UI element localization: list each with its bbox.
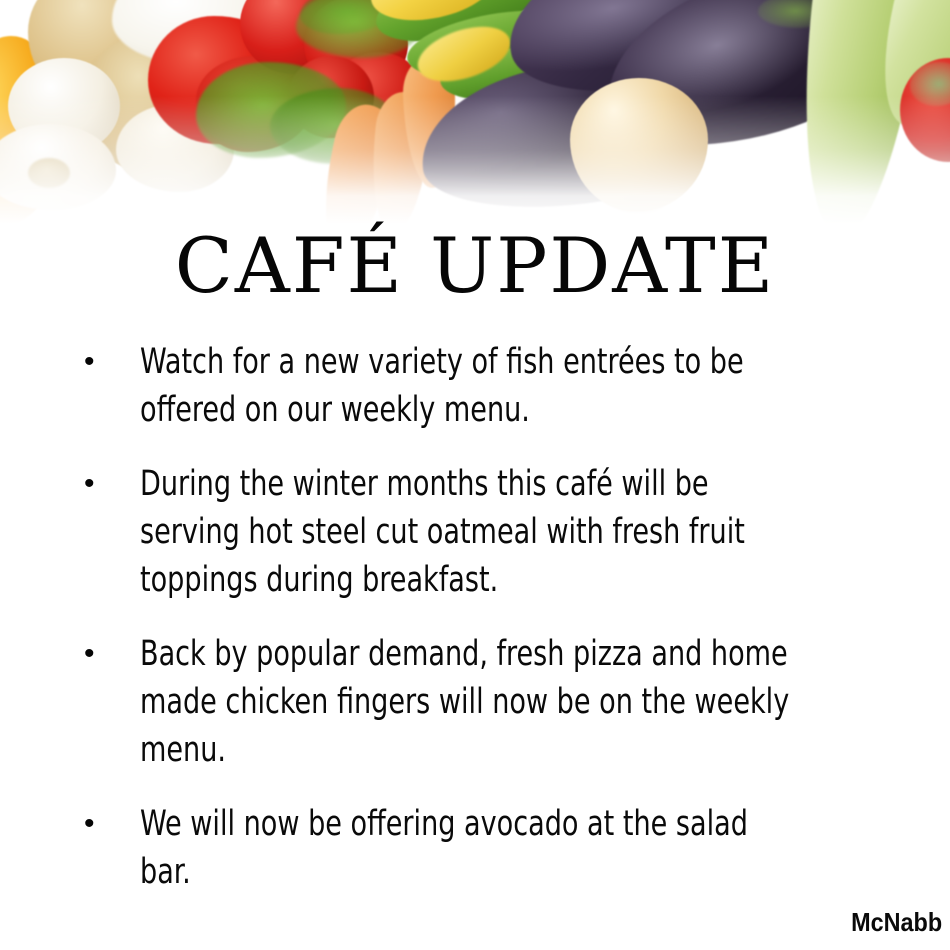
list-item: • Back by popular demand, fresh pizza an… [74, 630, 904, 774]
mushroom-stem-icon [28, 158, 70, 188]
list-item: • We will now be offering avocado at the… [74, 800, 904, 896]
onion-root-icon [614, 196, 664, 214]
bullet-marker-icon: • [74, 800, 140, 848]
list-item: • Watch for a new variety of fish entrée… [74, 338, 904, 434]
bullet-marker-icon: • [74, 460, 140, 508]
list-item-text: Back by popular demand, fresh pizza and … [140, 630, 797, 774]
vegetable-border-image [0, 0, 950, 240]
bullet-marker-icon: • [74, 630, 140, 678]
announcement-bullet-list: • Watch for a new variety of fish entrée… [74, 338, 904, 896]
list-item-text: Watch for a new variety of fish entrées … [140, 338, 797, 434]
footer-attribution: McNabb [851, 907, 942, 938]
list-item-text: We will now be offering avocado at the s… [140, 800, 797, 896]
list-item: • During the winter months this café wil… [74, 460, 904, 604]
bullet-marker-icon: • [74, 338, 140, 386]
slide-canvas: CAFÉ UPDATE • Watch for a new variety of… [0, 0, 950, 950]
list-item-text: During the winter months this café will … [140, 460, 797, 604]
onion-veg [570, 78, 708, 212]
page-title: CAFÉ UPDATE [0, 228, 950, 304]
